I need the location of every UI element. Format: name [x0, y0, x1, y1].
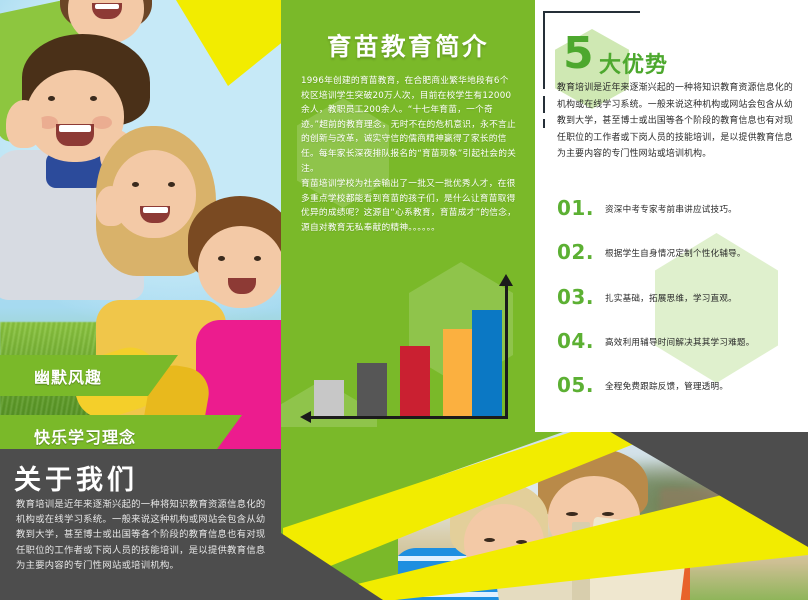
- advantage-label: 大优势: [599, 47, 668, 79]
- advantage-item-text: 全程免费跟踪反馈，管理透明。: [605, 380, 728, 392]
- advantage-item-04: 04. 高效利用辅导时间解决其其学习难题。: [0, 329, 273, 355]
- corner-rule-left: [543, 11, 545, 89]
- about-body-text: 教育培训是近年来逐渐兴起的一种将知识教育资源信息化的机构或在线学习系统。一般来说…: [16, 497, 270, 573]
- advantage-item-text: 资深中考专家考前串讲应试技巧。: [605, 203, 737, 215]
- white-divider-strip: [535, 420, 808, 432]
- corner-rule-dash-2: [543, 119, 545, 128]
- chart-bar-5: [472, 310, 502, 418]
- about-title: 关于我们: [14, 458, 138, 497]
- advantage-item-number: 03.: [557, 285, 594, 309]
- middle-paragraph-1: 1996年创建的育苗教育，在合肥商业繁华地段有6个校区培训学生突破20万人次，目…: [301, 74, 517, 176]
- advantage-item-text: 高效利用辅导时间解决其其学习难题。: [605, 336, 755, 348]
- advantage-count: 5: [563, 32, 594, 76]
- chart-bar-2: [357, 363, 387, 418]
- banner-happy-learning-label: 快乐学习理念: [0, 424, 136, 448]
- growth-bar-chart: [300, 276, 515, 441]
- chart-left-arrow-icon: [300, 411, 311, 423]
- corner-rule-dash-1: [543, 96, 545, 113]
- advantage-item-03: 03. 扎实基础，拓展思维，学习直观。: [0, 285, 273, 311]
- middle-panel-title: 育苗教育简介: [281, 28, 535, 63]
- chart-y-axis: [505, 283, 508, 419]
- advantage-item-02: 02. 根据学生自身情况定制个性化辅导。: [0, 240, 273, 266]
- chart-bar-4: [443, 329, 473, 418]
- advantage-item-text: 扎实基础，拓展思维，学习直观。: [605, 292, 737, 304]
- advantage-item-text: 根据学生自身情况定制个性化辅导。: [605, 247, 746, 259]
- advantage-item-number: 02.: [557, 240, 594, 264]
- chart-bar-1: [314, 380, 344, 418]
- right-intro-text: 教育培训是近年来逐渐兴起的一种将知识教育资源信息化的机构或在线学习系统。一般来说…: [557, 80, 793, 163]
- middle-paragraph-2: 育苗培训学校为社会输出了一批又一批优秀人才，在很多重点学校都能看到育苗的孩子们，…: [301, 177, 517, 235]
- advantage-item-number: 01.: [557, 196, 594, 220]
- trifold-brochure: 幽默风趣 快乐学习理念 关于我们 教育培训是近年来逐渐兴起的一种将知识教育资源信…: [0, 0, 808, 600]
- corner-rule-top: [543, 11, 640, 13]
- chart-up-arrow-icon: [499, 274, 513, 286]
- chart-x-axis: [309, 416, 506, 419]
- advantage-item-05: 05. 全程免费跟踪反馈，管理透明。: [0, 373, 273, 399]
- chart-bar-3: [400, 346, 430, 418]
- advantage-item-01: 01. 资深中考专家考前串讲应试技巧。: [0, 196, 273, 222]
- advantage-item-number: 04.: [557, 329, 594, 353]
- advantage-item-number: 05.: [557, 373, 594, 397]
